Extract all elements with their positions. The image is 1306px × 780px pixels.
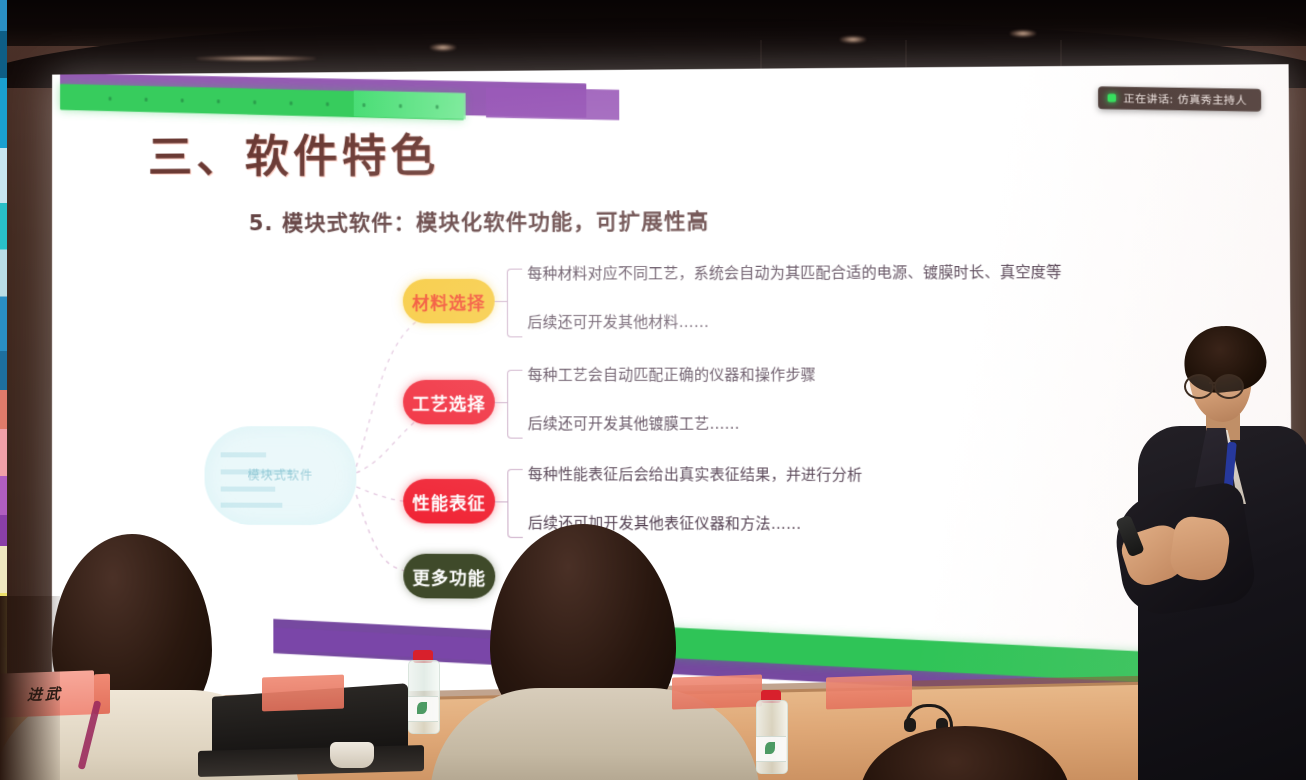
leaf-logo-icon <box>765 742 775 754</box>
screenshot-stage: 三、软件特色 5. 模块式软件：模块化软件功能，可扩展性高 模块式软件 材料选择… <box>0 0 1306 780</box>
leaf-logo-icon <box>417 702 427 714</box>
downlight-icon <box>430 44 456 51</box>
glasses-icon <box>1214 374 1244 399</box>
slide-subtitle: 5. 模块式软件：模块化软件功能，可扩展性高 <box>249 205 710 237</box>
headphone-earcup <box>904 718 916 732</box>
downlight-icon <box>196 56 316 61</box>
branch-text-0-0: 每种材料对应不同工艺，系统会自动为其匹配合适的电源、镀膜时长、真空度等 <box>527 261 1061 284</box>
mindmap-center-label: 模块式软件 <box>205 466 357 483</box>
presenter <box>1098 322 1306 780</box>
branch-pill-0[interactable]: 材料选择 <box>403 279 495 324</box>
glasses-icon <box>1184 374 1214 399</box>
downlight-icon <box>840 36 866 43</box>
speaking-status-text: 正在讲话: 仿真秀主持人 <box>1124 90 1248 107</box>
name-card <box>826 674 912 709</box>
downlight-icon <box>1010 30 1036 37</box>
coffee-mug <box>330 742 374 768</box>
branch-stub-1 <box>495 402 507 403</box>
speaking-status-badge: 正在讲话: 仿真秀主持人 <box>1098 87 1261 112</box>
branch-bracket-1 <box>507 370 523 439</box>
ribbon-purple-top-accent <box>486 87 619 120</box>
microphone-active-icon <box>1108 94 1116 102</box>
name-card <box>672 674 762 709</box>
bottle-label <box>756 736 786 762</box>
branch-pill-2[interactable]: 性能表征 <box>403 479 495 524</box>
branch-pill-1[interactable]: 工艺选择 <box>403 380 495 425</box>
glasses-bridge <box>1209 382 1216 384</box>
bottle-label <box>408 696 438 722</box>
branch-pill-3[interactable]: 更多功能 <box>403 554 495 599</box>
branch-text-2-0: 每种性能表征后会给出真实表征结果，并进行分析 <box>528 463 863 485</box>
branch-text-1-1: 后续还可开发其他镀膜工艺…… <box>528 412 740 434</box>
branch-stub-2 <box>495 501 507 502</box>
branch-text-0-1: 后续还可开发其他材料…… <box>527 311 709 333</box>
name-card <box>262 675 344 712</box>
slide-title: 三、软件特色 <box>148 120 439 186</box>
branch-bracket-2 <box>507 469 523 538</box>
branch-bracket-0 <box>507 269 523 338</box>
headphones <box>905 704 947 730</box>
foreground-shadow-left <box>0 596 60 780</box>
branch-text-1-0: 每种工艺会自动匹配正确的仪器和操作步骤 <box>528 363 816 384</box>
branch-stub-0 <box>495 301 507 302</box>
